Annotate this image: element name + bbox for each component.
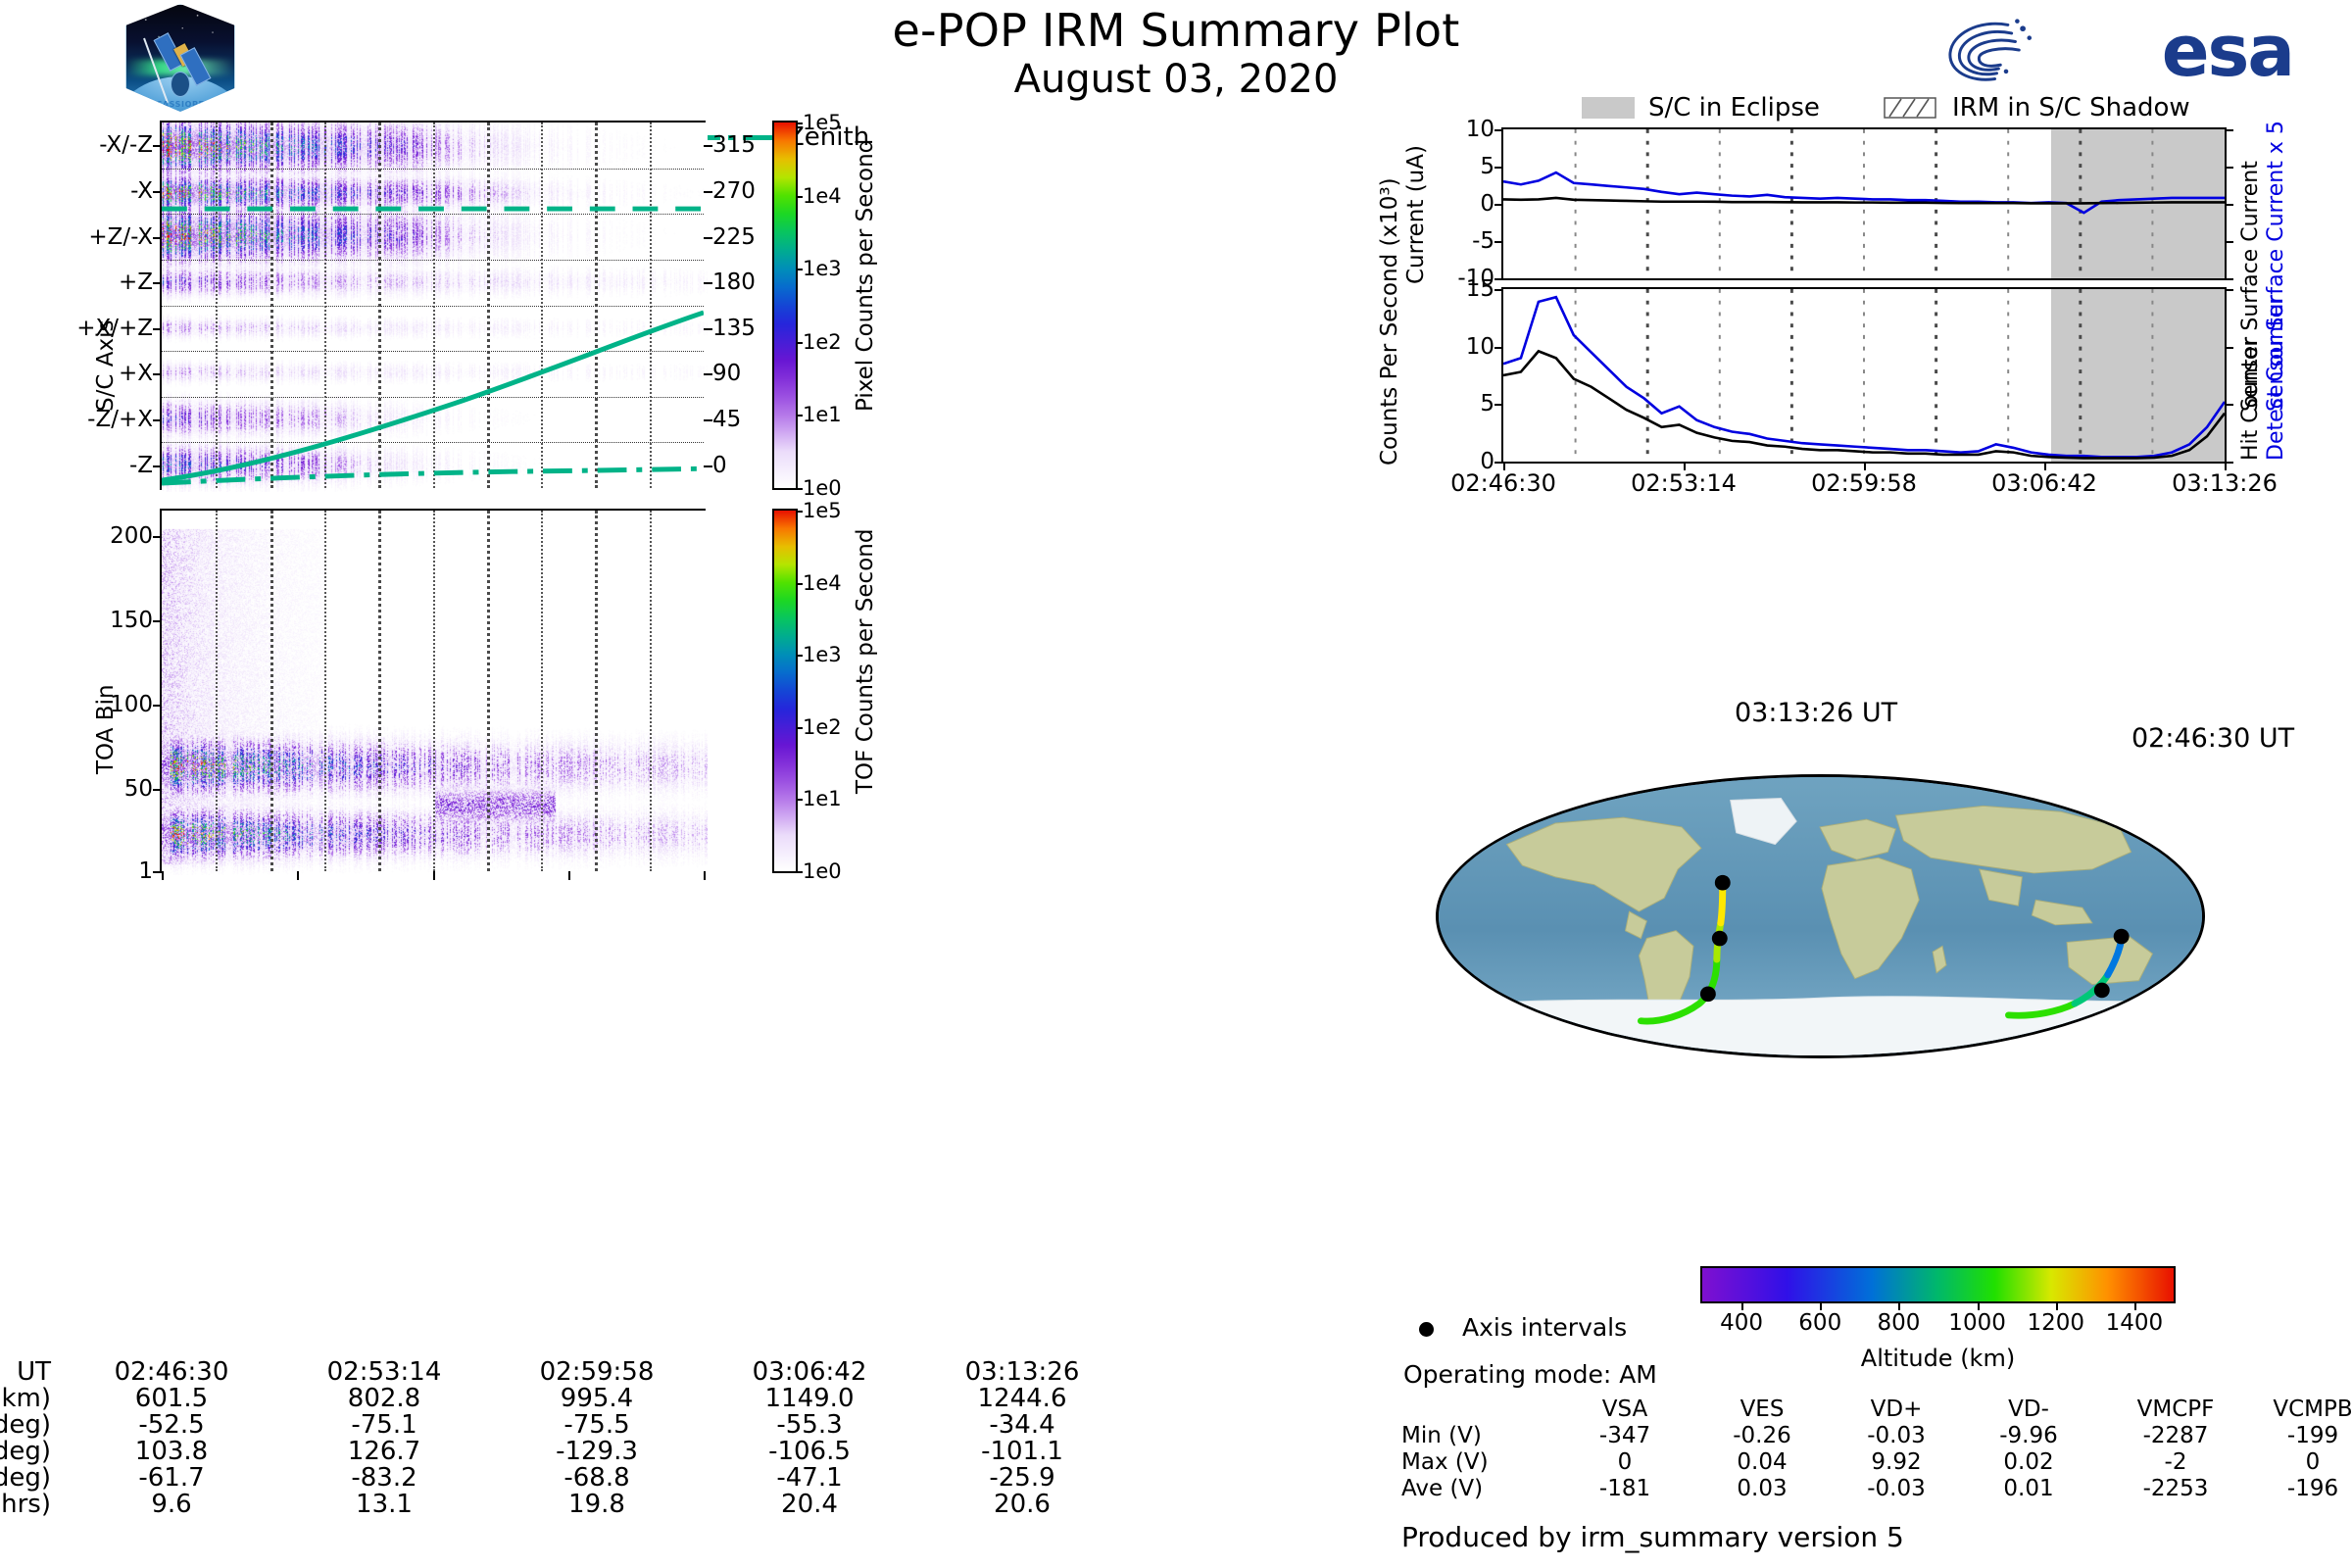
operating-mode-label: Operating mode: AM bbox=[1403, 1360, 1657, 1389]
spec1-ytick-left-0: -X/-Z bbox=[99, 132, 153, 158]
spec1-trace-bfield bbox=[162, 313, 704, 480]
current-ytick-0: 10 bbox=[1466, 117, 1494, 142]
voltage-cell-1-0: 0 bbox=[1618, 1449, 1633, 1475]
current-traces bbox=[1503, 129, 2225, 278]
time-tickmark-2 bbox=[1864, 462, 1866, 470]
spec1-tickmark-right-3 bbox=[704, 282, 712, 284]
ephemeris-cell-2-1: -75.1 bbox=[351, 1410, 416, 1440]
current-tickmark-2 bbox=[1494, 204, 1503, 206]
ephemeris-cell-0-4: 03:13:26 bbox=[965, 1357, 1080, 1387]
spectrogram-toa-bin[interactable]: 200150100501 bbox=[160, 509, 706, 873]
spec1-tickmark-left-6 bbox=[153, 419, 162, 421]
colorbar-pixel-tickmark-4 bbox=[796, 415, 803, 416]
track-marker-start bbox=[2114, 929, 2130, 945]
ephemeris-row-label-4: MLAT (deg) bbox=[0, 1463, 51, 1493]
colorbar-tof-tick-1: 1e4 bbox=[803, 571, 842, 595]
ephemeris-cell-0-1: 02:53:14 bbox=[327, 1357, 442, 1387]
world-map-image bbox=[1439, 777, 2202, 1055]
voltage-col-header-4: VMCPF bbox=[2137, 1396, 2215, 1422]
spec1-ytick-right-1: 270 bbox=[712, 178, 756, 204]
colorbar-pixel-tick-2: 1e3 bbox=[803, 257, 842, 280]
spectrogram-axis-angle[interactable]: -X/-Z-X+Z/-X+Z+X/+Z+X-Z/+X-Z315270225180… bbox=[160, 121, 706, 490]
spec2-time-tickmark-2 bbox=[433, 871, 435, 880]
spec1-ytick-right-3: 180 bbox=[712, 269, 756, 295]
counts-tickmark-r-0 bbox=[2225, 289, 2233, 291]
spec2-time-tickmark-4 bbox=[704, 871, 706, 880]
ephemeris-row-label-5: MLT (hrs) bbox=[0, 1490, 51, 1519]
ephemeris-cell-3-4: -101.1 bbox=[981, 1437, 1063, 1466]
ephemeris-row: LAT (deg)-52.5-75.1-75.5-55.3-34.4 bbox=[59, 1410, 843, 1437]
spec1-ytick-right-2: 225 bbox=[712, 224, 756, 250]
spec2-vgrid-2 bbox=[270, 511, 273, 871]
spec1-trace-zenith bbox=[162, 468, 704, 483]
spec2-ytick-4: 1 bbox=[138, 858, 153, 884]
legend-label-shadow: IRM in S/C Shadow bbox=[1952, 93, 2190, 122]
ephemeris-cell-3-3: -106.5 bbox=[768, 1437, 851, 1466]
counts-right-label-blue: Detect Counter bbox=[2264, 296, 2288, 461]
spec1-tickmark-left-0 bbox=[153, 145, 162, 147]
current-panel[interactable]: 1050-5-10 bbox=[1501, 127, 2227, 280]
legend-label-eclipse: S/C in Eclipse bbox=[1648, 93, 1820, 122]
axis-interval-dot-icon bbox=[1419, 1322, 1434, 1337]
spec2-vgrid-5 bbox=[433, 511, 435, 871]
voltage-row-label-2: Ave (V) bbox=[1401, 1476, 1483, 1501]
spec1-tickmark-left-5 bbox=[153, 373, 162, 375]
colorbar-tof-tickmark-1 bbox=[796, 583, 803, 585]
voltage-cell-0-2: -0.03 bbox=[1867, 1423, 1926, 1448]
voltage-cell-2-3: 0.01 bbox=[2003, 1476, 2053, 1501]
colorbar-tof-tick-5: 1e0 bbox=[803, 859, 842, 883]
colorbar-tof-tickmark-0 bbox=[796, 511, 803, 513]
counts-ytick-2: 5 bbox=[1480, 391, 1494, 416]
voltage-cell-0-1: -0.26 bbox=[1733, 1423, 1791, 1448]
spec1-tickmark-right-5 bbox=[704, 373, 712, 375]
trace-0 bbox=[1503, 297, 2225, 457]
spec2-ytick-0: 200 bbox=[110, 523, 153, 549]
spec1-tickmark-right-4 bbox=[704, 328, 712, 330]
colorbar-pixel-counts: 1e51e41e31e21e11e0 bbox=[772, 121, 798, 490]
spec2-vgrid-9 bbox=[650, 511, 652, 871]
voltage-cell-2-5: -196 bbox=[2287, 1476, 2338, 1501]
spec2-time-tickmark-0 bbox=[162, 871, 164, 880]
spec2-vgrid-6 bbox=[487, 511, 490, 871]
altitude-tickmark-3 bbox=[1978, 1301, 1980, 1310]
voltage-cell-0-5: -199 bbox=[2287, 1423, 2338, 1448]
ephemeris-cell-5-0: 9.6 bbox=[151, 1490, 191, 1519]
current-tickmark-r-0 bbox=[2225, 129, 2233, 131]
voltage-cell-2-4: -2253 bbox=[2143, 1476, 2209, 1501]
ephemeris-cell-3-0: 103.8 bbox=[135, 1437, 208, 1466]
time-tickmark-4 bbox=[2225, 462, 2227, 470]
spec2-vgrid-4 bbox=[378, 511, 381, 871]
ephemeris-cell-4-4: -25.9 bbox=[989, 1463, 1054, 1493]
voltage-cell-1-4: -2 bbox=[2165, 1449, 2187, 1475]
voltage-cell-1-2: 9.92 bbox=[1871, 1449, 1921, 1475]
spec1-tickmark-left-3 bbox=[153, 282, 162, 284]
spec2-tickmark-1 bbox=[153, 620, 162, 622]
legend-swatch-shadow-icon bbox=[1884, 97, 1936, 119]
time-tick-label-1: 02:53:14 bbox=[1631, 469, 1737, 497]
counts-right-label-black: Hit Counter bbox=[2238, 337, 2263, 461]
counts-tickmark-3 bbox=[1494, 462, 1503, 464]
time-tick-label-0: 02:46:30 bbox=[1450, 469, 1556, 497]
voltage-cell-0-4: -2287 bbox=[2143, 1423, 2209, 1448]
colorbar-pixel-tickmark-5 bbox=[796, 488, 803, 490]
counts-tickmark-1 bbox=[1494, 347, 1503, 349]
spec1-tickmark-right-1 bbox=[704, 191, 712, 193]
time-tick-label-4: 03:13:26 bbox=[2172, 469, 2278, 497]
ephemeris-row: MLT (hrs)9.613.119.820.420.6 bbox=[59, 1490, 843, 1516]
spec1-tickmark-left-4 bbox=[153, 328, 162, 330]
voltage-cell-0-0: -347 bbox=[1599, 1423, 1650, 1448]
voltage-col-header-2: VD+ bbox=[1871, 1396, 1923, 1422]
colorbar-pixel-tick-3: 1e2 bbox=[803, 330, 842, 354]
colorbar-pixel-tickmark-3 bbox=[796, 342, 803, 344]
current-tickmark-r-4 bbox=[2225, 278, 2233, 280]
altitude-tick-5: 1400 bbox=[2106, 1310, 2164, 1336]
altitude-tick-2: 800 bbox=[1877, 1310, 1920, 1336]
ephemeris-cell-5-3: 20.4 bbox=[781, 1490, 838, 1519]
spec1-ytick-right-4: 135 bbox=[712, 316, 756, 341]
spec1-tickmark-right-6 bbox=[704, 419, 712, 421]
colorbar-tof-tickmark-2 bbox=[796, 655, 803, 657]
spec2-time-tickmark-3 bbox=[568, 871, 570, 880]
colorbar-pixel-tick-1: 1e4 bbox=[803, 184, 842, 208]
map-label-start-time: 02:46:30 UT bbox=[2131, 723, 2294, 754]
colorbar-tof-tick-0: 1e5 bbox=[803, 499, 842, 522]
spec2-time-tickmark-1 bbox=[297, 871, 299, 880]
current-ytick-1: 5 bbox=[1480, 154, 1494, 179]
esa-wordmark: esa bbox=[2162, 10, 2293, 92]
spec2-ytick-3: 50 bbox=[124, 776, 153, 802]
track-marker-mid-3 bbox=[2094, 983, 2110, 999]
colorbar-pixel-tickmark-0 bbox=[796, 122, 803, 124]
ephemeris-cell-0-0: 02:46:30 bbox=[115, 1357, 229, 1387]
altitude-tickmark-5 bbox=[2134, 1301, 2136, 1310]
colorbar-tof-tick-2: 1e3 bbox=[803, 643, 842, 666]
colorbar-tof-tick-4: 1e1 bbox=[803, 787, 842, 810]
ephemeris-row-label-0: UT bbox=[17, 1357, 51, 1387]
legend-swatch-eclipse bbox=[1582, 97, 1635, 119]
counts-tickmark-0 bbox=[1494, 289, 1503, 291]
current-ytick-3: -5 bbox=[1472, 228, 1494, 254]
voltage-cell-1-1: 0.04 bbox=[1737, 1449, 1787, 1475]
colorbar-tof-tickmark-3 bbox=[796, 727, 803, 729]
ephemeris-cell-3-2: -129.3 bbox=[556, 1437, 638, 1466]
altitude-tick-1: 600 bbox=[1798, 1310, 1841, 1336]
colorbar-tof-counts-label: TOF Counts per Second bbox=[853, 529, 878, 794]
spec2-tickmark-4 bbox=[153, 871, 162, 873]
altitude-colorbar-label: Altitude (km) bbox=[1700, 1345, 2176, 1372]
counts-ytick-0: 15 bbox=[1466, 276, 1494, 302]
spec1-ytick-right-0: 315 bbox=[712, 132, 756, 158]
spec1-ytick-left-4: +X/+Z bbox=[76, 316, 153, 341]
ephemeris-cell-2-2: -75.5 bbox=[563, 1410, 629, 1440]
current-tickmark-0 bbox=[1494, 129, 1503, 131]
counts-tickmark-2 bbox=[1494, 404, 1503, 406]
footer-credit: Produced by irm_summary version 5 bbox=[1401, 1521, 1904, 1553]
counts-traces bbox=[1503, 289, 2225, 462]
voltage-col-header-0: VSA bbox=[1602, 1396, 1648, 1422]
colorbar-tof-tickmark-5 bbox=[796, 871, 803, 873]
time-tick-label-2: 02:59:58 bbox=[1811, 469, 1917, 497]
esa-swirl-icon bbox=[1940, 14, 2034, 88]
counts-tickmark-r-1 bbox=[2225, 347, 2233, 349]
ephemeris-table: UT02:46:3002:53:1402:59:5803:06:4203:13:… bbox=[59, 1357, 843, 1516]
voltage-cell-0-3: -9.96 bbox=[1999, 1423, 2058, 1448]
ephemeris-row: LON (deg)103.8126.7-129.3-106.5-101.1 bbox=[59, 1437, 843, 1463]
axis-intervals-label: Axis intervals bbox=[1462, 1313, 1627, 1342]
spec1-ytick-left-1: -X bbox=[130, 178, 153, 204]
colorbar-pixel-tick-4: 1e1 bbox=[803, 403, 842, 426]
spec2-vgrid-7 bbox=[541, 511, 543, 871]
spec1-tickmark-right-0 bbox=[704, 145, 712, 147]
voltage-cell-2-1: 0.03 bbox=[1737, 1476, 1787, 1501]
current-tickmark-r-1 bbox=[2225, 167, 2233, 169]
spectrogram-toa-image bbox=[162, 511, 708, 875]
ephemeris-cell-5-1: 13.1 bbox=[356, 1490, 413, 1519]
time-tickmark-3 bbox=[2044, 462, 2046, 470]
voltage-cell-2-2: -0.03 bbox=[1867, 1476, 1926, 1501]
counts-ytick-1: 10 bbox=[1466, 334, 1494, 360]
spec2-vgrid-1 bbox=[216, 511, 218, 871]
ephemeris-cell-2-4: -34.4 bbox=[989, 1410, 1054, 1440]
voltage-cell-1-5: 0 bbox=[2306, 1449, 2321, 1475]
spec2-tickmark-2 bbox=[153, 705, 162, 707]
spec2-tickmark-3 bbox=[153, 789, 162, 791]
spec1-ytick-left-5: +X bbox=[119, 361, 153, 386]
altitude-tick-0: 400 bbox=[1720, 1310, 1763, 1336]
ephemeris-cell-3-1: 126.7 bbox=[348, 1437, 420, 1466]
ephemeris-cell-4-2: -68.8 bbox=[563, 1463, 629, 1493]
ephemeris-cell-0-2: 02:59:58 bbox=[540, 1357, 655, 1387]
track-marker-mid-2 bbox=[1700, 986, 1716, 1002]
altitude-tickmark-1 bbox=[1820, 1301, 1822, 1310]
time-tick-label-3: 03:06:42 bbox=[1991, 469, 2097, 497]
spec2-tickmark-0 bbox=[153, 536, 162, 538]
altitude-tickmark-2 bbox=[1898, 1301, 1900, 1310]
cassiope-logo: CASSIOPE bbox=[125, 4, 235, 112]
current-tickmark-r-3 bbox=[2225, 241, 2233, 243]
voltage-col-header-5: VCMPB bbox=[2273, 1396, 2352, 1422]
ephemeris-row: ALT (km)601.5802.8995.41149.01244.6 bbox=[59, 1384, 843, 1410]
ephemeris-cell-0-3: 03:06:42 bbox=[753, 1357, 867, 1387]
spec1-tickmark-right-2 bbox=[704, 237, 712, 239]
ephemeris-cell-1-1: 802.8 bbox=[348, 1384, 420, 1413]
counts-panel-ylabel: Counts Per Second (x10³) bbox=[1377, 279, 1402, 465]
voltage-cell-1-3: 0.02 bbox=[2003, 1449, 2053, 1475]
altitude-tickmark-4 bbox=[2056, 1301, 2058, 1310]
cassiope-logo-text: CASSIOPE bbox=[126, 100, 234, 109]
ephemeris-row-label-1: ALT (km) bbox=[0, 1384, 51, 1413]
current-tickmark-4 bbox=[1494, 278, 1503, 280]
spec2-ytick-2: 100 bbox=[110, 692, 153, 717]
spec1-overlay-traces bbox=[162, 122, 704, 488]
spec1-ytick-left-2: +Z/-X bbox=[88, 224, 153, 250]
colorbar-pixel-tickmark-1 bbox=[796, 196, 803, 198]
ephemeris-row: MLAT (deg)-61.7-83.2-68.8-47.1-25.9 bbox=[59, 1463, 843, 1490]
ephemeris-cell-5-2: 19.8 bbox=[568, 1490, 625, 1519]
colorbar-tof-tickmark-4 bbox=[796, 799, 803, 801]
spec1-ytick-left-6: -Z/+X bbox=[87, 407, 153, 432]
spec1-tickmark-left-1 bbox=[153, 191, 162, 193]
spec1-ytick-left-7: -Z bbox=[129, 453, 153, 478]
spec1-ytick-left-3: +Z bbox=[119, 269, 153, 295]
ephemeris-cell-5-4: 20.6 bbox=[994, 1490, 1051, 1519]
ephemeris-cell-1-4: 1244.6 bbox=[978, 1384, 1067, 1413]
ephemeris-cell-4-1: -83.2 bbox=[351, 1463, 416, 1493]
ephemeris-row-label-2: LAT (deg) bbox=[0, 1410, 51, 1440]
counts-tickmark-r-2 bbox=[2225, 404, 2233, 406]
ephemeris-cell-2-0: -52.5 bbox=[138, 1410, 204, 1440]
current-ytick-2: 0 bbox=[1480, 191, 1494, 217]
current-tickmark-3 bbox=[1494, 241, 1503, 243]
ephemeris-cell-4-0: -61.7 bbox=[138, 1463, 204, 1493]
ephemeris-cell-4-3: -47.1 bbox=[776, 1463, 842, 1493]
colorbar-tof-counts: 1e51e41e31e21e11e0 bbox=[772, 509, 798, 873]
altitude-colorbar: 400600800100012001400 bbox=[1700, 1266, 2176, 1303]
altitude-tickmark-0 bbox=[1741, 1301, 1743, 1310]
ephemeris-cell-1-3: 1149.0 bbox=[765, 1384, 855, 1413]
counts-panel[interactable]: 15105002:46:3002:53:1402:59:5803:06:4203… bbox=[1501, 287, 2227, 464]
voltage-cell-2-0: -181 bbox=[1599, 1476, 1650, 1501]
time-tickmark-1 bbox=[1684, 462, 1686, 470]
colorbar-pixel-tickmark-2 bbox=[796, 269, 803, 270]
ephemeris-row: UT02:46:3002:53:1402:59:5803:06:4203:13:… bbox=[59, 1357, 843, 1384]
spec1-tickmark-left-2 bbox=[153, 237, 162, 239]
voltage-col-header-1: VES bbox=[1740, 1396, 1785, 1422]
ground-track-map[interactable] bbox=[1436, 774, 2205, 1058]
altitude-tick-4: 1200 bbox=[2027, 1310, 2084, 1336]
spec2-vgrid-3 bbox=[324, 511, 326, 871]
track-marker-end bbox=[1715, 875, 1731, 891]
esa-logo: esa bbox=[1940, 6, 2293, 96]
colorbar-pixel-tick-0: 1e5 bbox=[803, 111, 842, 134]
current-panel-ylabel: Current (uA) bbox=[1403, 145, 1429, 284]
ephemeris-row-label-3: LON (deg) bbox=[0, 1437, 51, 1466]
colorbar-pixel-counts-label: Pixel Counts per Second bbox=[853, 139, 878, 412]
spec2-ytick-1: 150 bbox=[110, 608, 153, 633]
voltage-row-label-0: Min (V) bbox=[1401, 1423, 1482, 1448]
antarctica-shape bbox=[1439, 997, 2202, 1055]
spec1-ytick-right-6: 45 bbox=[712, 407, 741, 432]
ephemeris-cell-2-3: -55.3 bbox=[776, 1410, 842, 1440]
current-tickmark-1 bbox=[1494, 167, 1503, 169]
colorbar-pixel-tick-5: 1e0 bbox=[803, 476, 842, 500]
map-label-end-time: 03:13:26 UT bbox=[1735, 698, 1897, 728]
current-tickmark-r-2 bbox=[2225, 204, 2233, 206]
spec1-tickmark-left-7 bbox=[153, 465, 162, 467]
spec2-vgrid-8 bbox=[595, 511, 598, 871]
spec1-ytick-right-5: 90 bbox=[712, 361, 741, 386]
track-marker-mid-1 bbox=[1712, 931, 1728, 947]
ephemeris-cell-1-0: 601.5 bbox=[135, 1384, 208, 1413]
altitude-tick-3: 1000 bbox=[1948, 1310, 2006, 1336]
colorbar-tof-tick-3: 1e2 bbox=[803, 715, 842, 739]
voltage-col-header-3: VD- bbox=[2008, 1396, 2049, 1422]
globe-background bbox=[1436, 774, 2205, 1058]
voltage-row-label-1: Max (V) bbox=[1401, 1449, 1489, 1475]
spec1-ytick-right-7: 0 bbox=[712, 453, 727, 478]
spec1-tickmark-right-7 bbox=[704, 465, 712, 467]
ephemeris-cell-1-2: 995.4 bbox=[561, 1384, 633, 1413]
time-tickmark-0 bbox=[1503, 462, 1505, 470]
